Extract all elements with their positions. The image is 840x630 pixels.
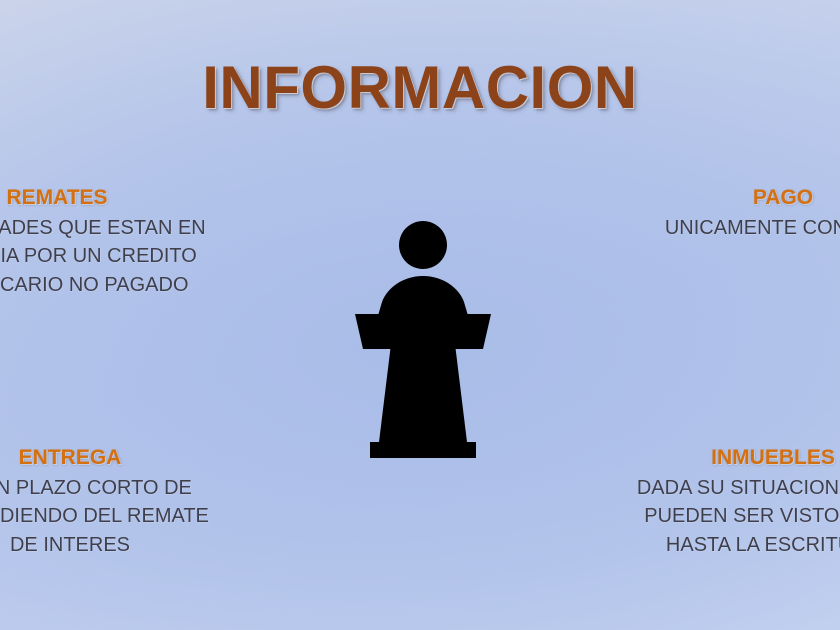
- block-heading-entrega: ENTREGA: [0, 446, 245, 471]
- page-title: INFORMACION: [0, 58, 840, 118]
- block-line: DE UN PLAZO CORTO DE: [0, 474, 245, 502]
- block-line: GARANTIA POR UN CREDITO: [0, 242, 232, 270]
- block-line: UNICAMENTE CONTADO: [608, 214, 840, 242]
- text-block-entrega: ENTREGA DE UN PLAZO CORTO DE DEPENDIENDO…: [0, 446, 245, 559]
- block-line: HASTA LA ESCRITURA: [598, 531, 840, 559]
- slide-canvas: INFORMACION REMATES PROPIEDADES QUE ESTA…: [0, 0, 840, 630]
- text-block-remates: REMATES PROPIEDADES QUE ESTAN EN GARANTI…: [0, 186, 232, 299]
- text-block-inmuebles: INMUEBLES DADA SU SITUACION LEGAL PUEDEN…: [598, 446, 840, 559]
- block-line: PUEDEN SER VISTOS POR: [598, 502, 840, 530]
- block-heading-pago: PAGO: [608, 186, 840, 211]
- speaker-at-podium-icon: [345, 218, 495, 468]
- block-heading-inmuebles: INMUEBLES: [598, 446, 840, 471]
- block-line: DE INTERES: [0, 531, 245, 559]
- block-line: DEPENDIENDO DEL REMATE: [0, 502, 245, 530]
- block-line: HIPOTECARIO NO PAGADO: [0, 271, 232, 299]
- block-line: DADA SU SITUACION LEGAL: [598, 474, 840, 502]
- text-block-pago: PAGO UNICAMENTE CONTADO: [608, 186, 840, 242]
- block-heading-remates: REMATES: [0, 186, 232, 211]
- block-line: PROPIEDADES QUE ESTAN EN: [0, 214, 232, 242]
